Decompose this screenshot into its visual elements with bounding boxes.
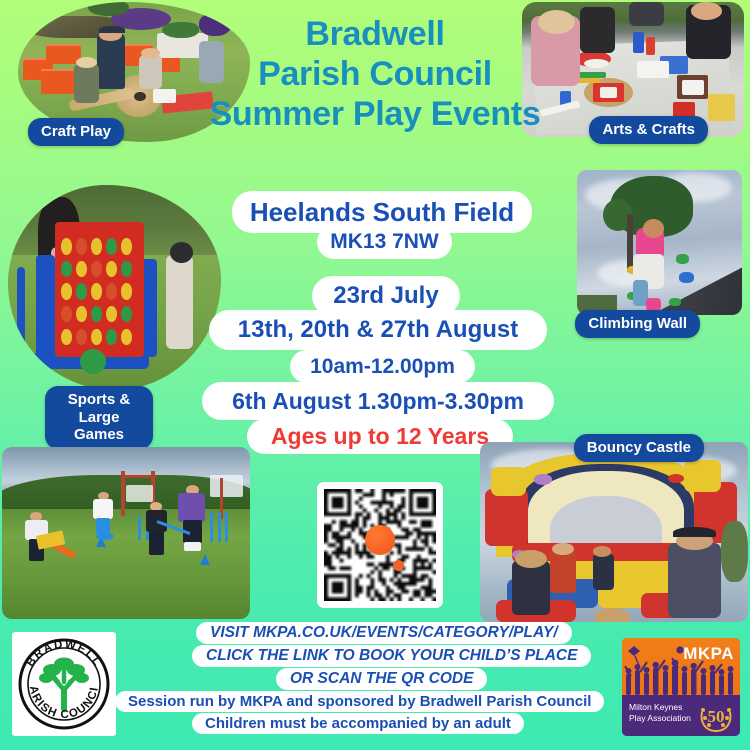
- player-figure: [91, 492, 116, 540]
- event-time-morning: 10am-12.00pm: [290, 350, 475, 383]
- poster-canvas: Craft Play Arts & Crafts Bradwell Parish…: [0, 0, 750, 750]
- mkpa-wordmark: MKPA: [683, 644, 734, 664]
- photo-sports-field: [2, 447, 250, 619]
- badge-climbing-wall: Climbing Wall: [575, 310, 700, 338]
- mkpa-logo-bottom: Milton Keynes Play Association 50: [622, 695, 740, 736]
- age-restriction: Ages up to 12 Years: [247, 419, 513, 454]
- photo-bouncy-castle: [480, 442, 748, 622]
- badge-arts-crafts: Arts & Crafts: [589, 116, 708, 144]
- booking-instruction-line: CLICK THE LINK TO BOOK YOUR CHILD’S PLAC…: [192, 645, 591, 667]
- anniversary-wreath-icon: 50: [696, 698, 736, 734]
- badge-sports-large-games: Sports & Large Games: [45, 386, 153, 449]
- mkpa-full-name: Milton Keynes Play Association: [629, 702, 691, 724]
- mkpa-logo: MKPA Milton Keynes Play Association 50: [622, 638, 740, 736]
- footer-supervision-note: Children must be accompanied by an adult: [192, 713, 524, 734]
- tree-emblem-icon: BRADWELL PARISH COUNCIL: [12, 632, 116, 736]
- mkpa-logo-top: MKPA: [622, 638, 740, 695]
- event-dates-august: 13th, 20th & 27th August: [209, 310, 547, 350]
- mkpa-name-line-2: Play Association: [629, 713, 691, 724]
- qr-center-dot-icon: [365, 525, 395, 555]
- badge-craft-play: Craft Play: [28, 118, 124, 146]
- badge-bouncy-castle: Bouncy Castle: [574, 434, 704, 462]
- svg-text:50: 50: [708, 707, 725, 726]
- photo-climbing-wall: [577, 170, 742, 315]
- player-figure: [176, 485, 211, 561]
- mkpa-name-line-1: Milton Keynes: [629, 702, 691, 713]
- booking-url-line[interactable]: VISIT MKPA.CO.UK/EVENTS/CATEGORY/PLAY/: [196, 622, 572, 644]
- qr-accent-dot-icon: [393, 560, 404, 571]
- photo-sports-large-games: [8, 185, 221, 390]
- bradwell-parish-council-logo: BRADWELL PARISH COUNCIL: [12, 632, 116, 736]
- booking-qr-line: OR SCAN THE QR CODE: [276, 668, 487, 690]
- player-figure: [143, 502, 170, 557]
- event-date-time-6th-august: 6th August 1.30pm-3.30pm: [202, 382, 554, 420]
- qr-code[interactable]: [317, 482, 443, 608]
- footer-sponsor-note: Session run by MKPA and sponsored by Bra…: [115, 691, 604, 712]
- venue-postcode: MK13 7NW: [317, 225, 452, 259]
